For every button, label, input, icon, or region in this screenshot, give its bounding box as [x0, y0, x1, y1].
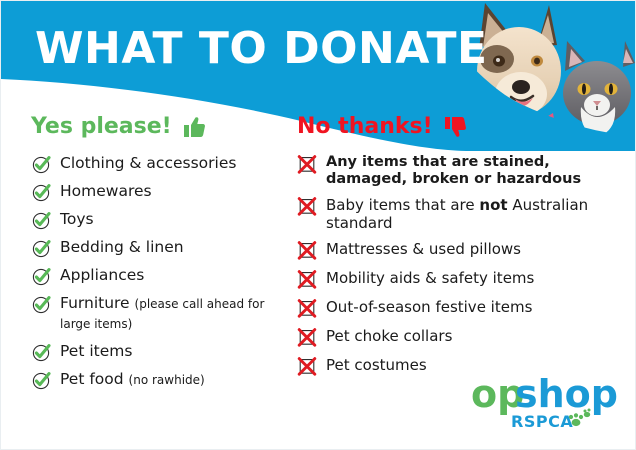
opshop-rspca-logo: op shop RSPCA — [471, 373, 619, 435]
thumbs-up-icon — [182, 115, 206, 139]
item-note: (no rawhide) — [129, 373, 205, 387]
no-heading-label: No thanks! — [297, 114, 433, 140]
yes-list: Clothing & accessories Homewares — [31, 153, 291, 390]
item-label: Mattresses & used pillows — [326, 240, 521, 258]
item-label: Pet choke collars — [326, 327, 452, 345]
item-label: Any items that are stained, damaged, bro… — [326, 154, 581, 187]
list-item: Appliances — [31, 265, 291, 286]
list-item: Pet food (no rawhide) — [31, 369, 291, 390]
list-item: Any items that are stained, damaged, bro… — [297, 153, 617, 188]
item-label-before: Baby items that are — [326, 196, 479, 214]
list-item: Pet items — [31, 341, 291, 362]
item-label: Toys — [60, 210, 94, 228]
list-item: Homewares — [31, 181, 291, 202]
red-cross-box-icon — [297, 356, 317, 376]
red-cross-box-icon — [297, 196, 317, 216]
item-label: Clothing & accessories — [60, 154, 236, 172]
green-check-circle-icon — [31, 370, 51, 390]
list-item: Toys — [31, 209, 291, 230]
item-label: Appliances — [60, 266, 144, 284]
list-item: Baby items that are not Australian stand… — [297, 195, 617, 232]
green-check-circle-icon — [31, 154, 51, 174]
no-list: Any items that are stained, damaged, bro… — [297, 153, 617, 376]
donation-poster: WHAT TO DONATE Yes please! — [0, 0, 636, 450]
red-cross-box-icon — [297, 327, 317, 347]
green-check-circle-icon — [31, 238, 51, 258]
green-check-circle-icon — [31, 342, 51, 362]
green-check-circle-icon — [31, 182, 51, 202]
red-cross-box-icon — [297, 240, 317, 260]
red-cross-box-icon — [297, 154, 317, 174]
list-item: Mattresses & used pillows — [297, 239, 617, 260]
list-item: Pet choke collars — [297, 326, 617, 347]
green-check-circle-icon — [31, 294, 51, 314]
yes-column: Yes please! Clothing & — [31, 109, 291, 397]
svg-text:shop: shop — [515, 373, 618, 416]
red-cross-box-icon — [297, 269, 317, 289]
yes-heading: Yes please! — [31, 109, 291, 145]
item-label: Mobility aids & safety items — [326, 269, 534, 287]
green-check-circle-icon — [31, 266, 51, 286]
yes-heading-label: Yes please! — [31, 114, 172, 140]
list-item: Furniture (please call ahead for large i… — [31, 293, 291, 334]
item-label: Out-of-season festive items — [326, 298, 532, 316]
item-label: Pet items — [60, 342, 132, 360]
item-label: Bedding & linen — [60, 238, 184, 256]
list-item: Out-of-season festive items — [297, 297, 617, 318]
list-item: Bedding & linen — [31, 237, 291, 258]
thumbs-down-icon — [443, 115, 467, 139]
item-label: Homewares — [60, 182, 152, 200]
red-cross-box-icon — [297, 298, 317, 318]
page-title: WHAT TO DONATE — [35, 23, 488, 75]
svg-text:RSPCA: RSPCA — [511, 412, 573, 431]
item-label: Pet costumes — [326, 356, 427, 374]
list-item: Mobility aids & safety items — [297, 268, 617, 289]
no-heading: No thanks! — [297, 109, 617, 145]
item-label-emphasis: not — [479, 196, 507, 214]
list-item: Clothing & accessories — [31, 153, 291, 174]
item-label: Pet food — [60, 370, 124, 388]
green-check-circle-icon — [31, 210, 51, 230]
item-label: Furniture — [60, 294, 130, 312]
no-column: No thanks! Any items t — [297, 109, 617, 384]
